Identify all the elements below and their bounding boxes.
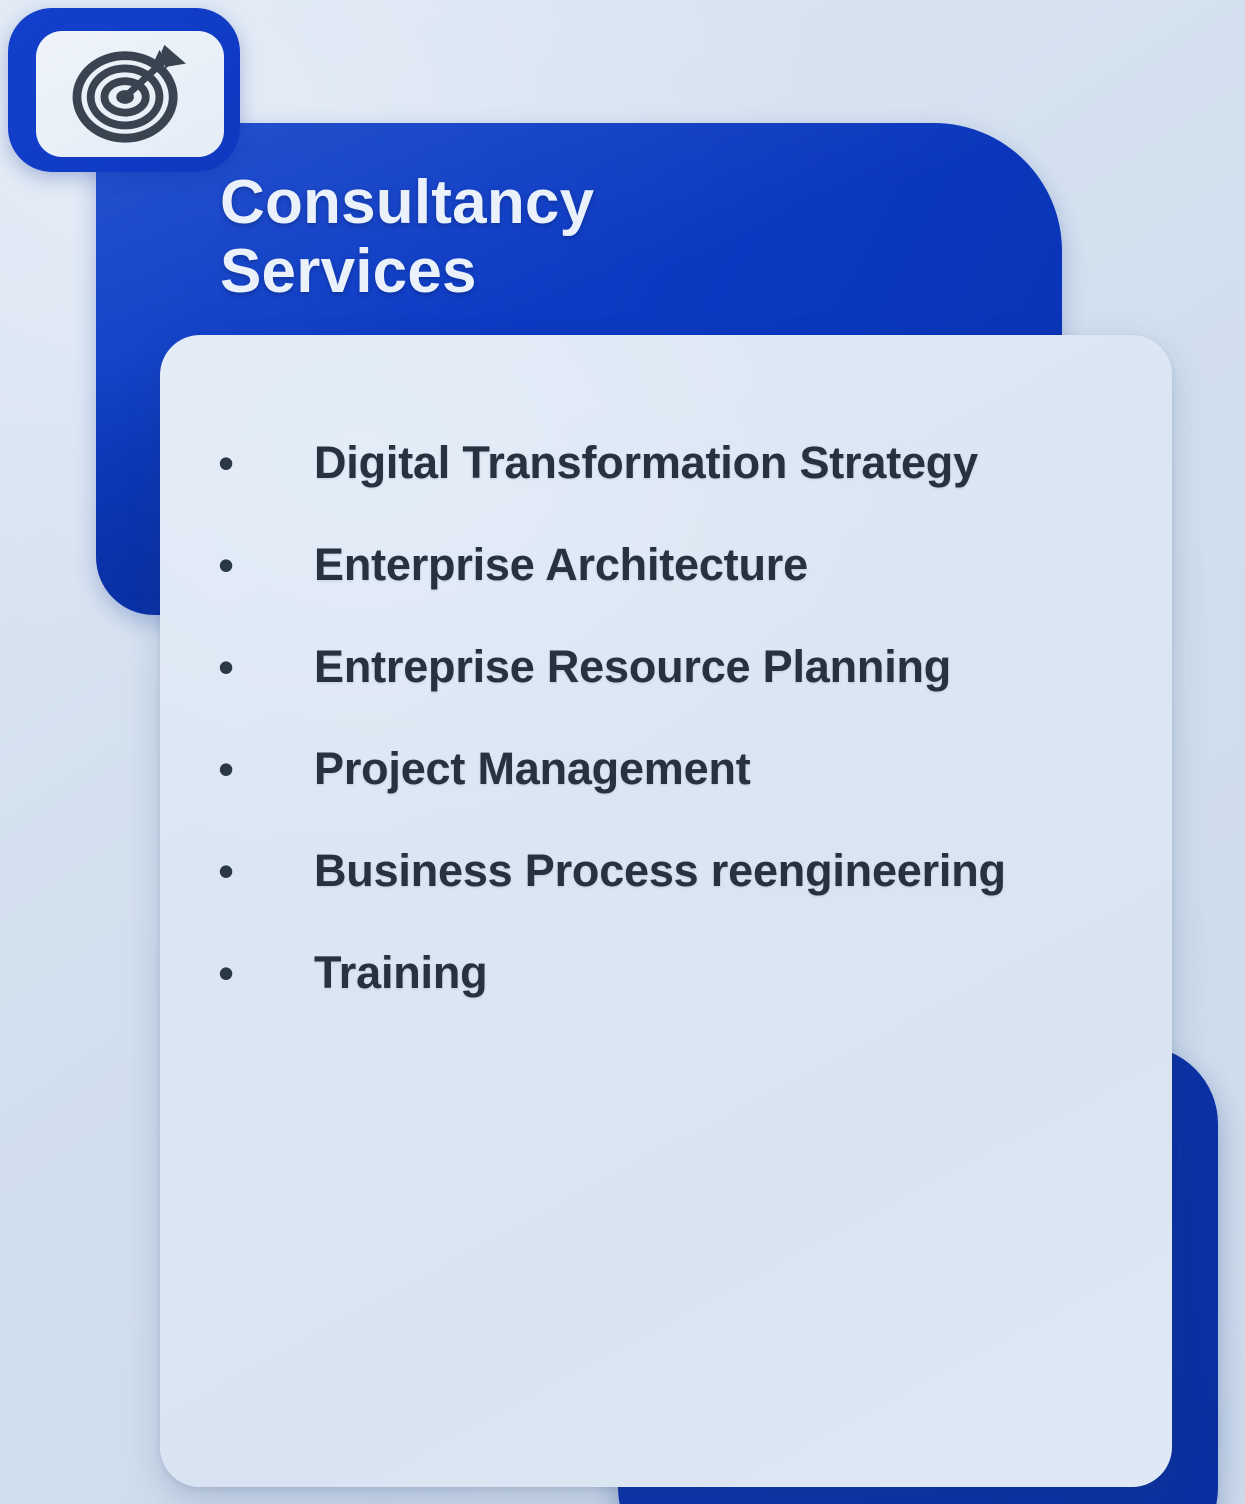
bullet-icon: • — [218, 733, 314, 805]
list-item[interactable]: • Entreprise Resource Planning — [218, 631, 1126, 703]
list-item[interactable]: • Training — [218, 937, 1126, 1009]
list-item-label: Training — [314, 937, 1126, 1009]
page-title: Consultancy Services — [220, 168, 940, 307]
services-list: • Digital Transformation Strategy • Ente… — [160, 335, 1172, 1009]
list-item-label: Entreprise Resource Planning — [314, 631, 1126, 703]
list-item-label: Project Management — [314, 733, 1126, 805]
list-item-label: Business Process reengineering — [314, 835, 1126, 907]
icon-badge-inner — [36, 31, 224, 157]
list-item[interactable]: • Enterprise Architecture — [218, 529, 1126, 601]
bullet-icon: • — [218, 427, 314, 499]
list-item-label: Enterprise Architecture — [314, 529, 1126, 601]
list-item[interactable]: • Project Management — [218, 733, 1126, 805]
list-item[interactable]: • Business Process reengineering — [218, 835, 1126, 907]
bullet-icon: • — [218, 631, 314, 703]
list-item[interactable]: • Digital Transformation Strategy — [218, 427, 1126, 499]
bullet-icon: • — [218, 835, 314, 907]
target-dartboard-icon — [71, 40, 189, 148]
bullet-icon: • — [218, 529, 314, 601]
list-item-label: Digital Transformation Strategy — [314, 427, 1126, 499]
services-card: • Digital Transformation Strategy • Ente… — [160, 335, 1172, 1487]
bullet-icon: • — [218, 937, 314, 1009]
slide-root: Consultancy Services — [0, 0, 1245, 1504]
icon-badge — [8, 8, 240, 172]
